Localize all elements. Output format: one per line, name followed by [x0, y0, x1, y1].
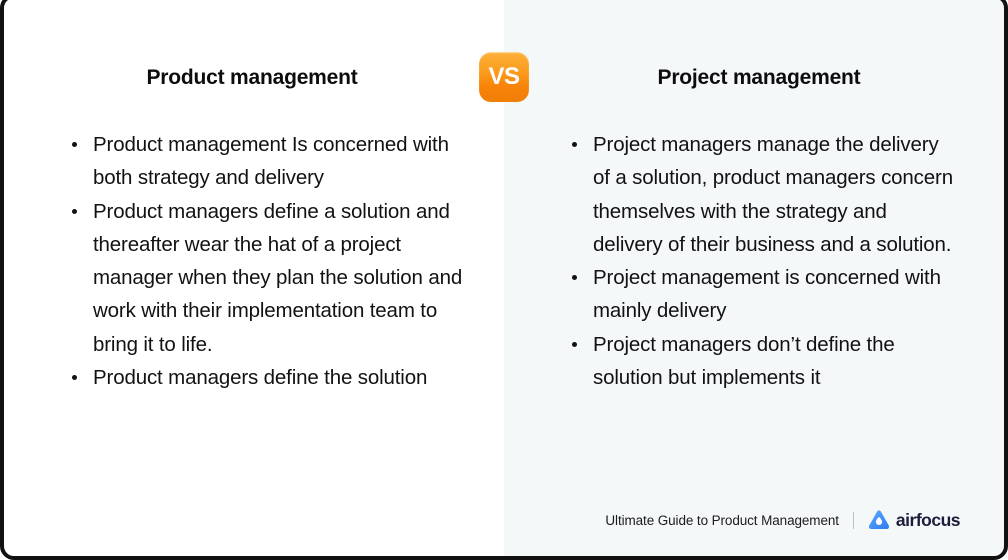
- vs-badge-label: VS: [488, 65, 519, 89]
- list-item: Product managers define a solution and t…: [64, 195, 464, 361]
- airfocus-triangle-drop-icon: [868, 509, 890, 531]
- list-item: Project management is concerned with mai…: [564, 261, 956, 328]
- footer: Ultimate Guide to Product Management: [605, 509, 960, 531]
- footer-divider: [853, 512, 854, 529]
- airfocus-logo: airfocus: [868, 509, 960, 531]
- footer-caption: Ultimate Guide to Product Management: [605, 513, 839, 528]
- vs-badge-icon: VS: [479, 52, 529, 102]
- list-item: Product managers define the solution: [64, 361, 464, 394]
- list-item: Project managers don’t define the soluti…: [564, 328, 956, 395]
- product-management-panel: Product management Product management Is…: [4, 0, 504, 556]
- product-management-bullet-list: Product management Is concerned with bot…: [64, 128, 464, 394]
- comparison-card: Product management Product management Is…: [4, 0, 1004, 556]
- comparison-slide: Product management Product management Is…: [0, 0, 1008, 560]
- project-management-panel: Project management Project managers mana…: [504, 0, 1004, 556]
- project-management-heading: Project management: [504, 64, 1004, 92]
- list-item: Project managers manage the delivery of …: [564, 128, 956, 261]
- list-item: Product management Is concerned with bot…: [64, 128, 464, 195]
- project-management-bullet-list: Project managers manage the delivery of …: [564, 128, 956, 394]
- airfocus-wordmark: airfocus: [896, 510, 960, 531]
- product-management-heading: Product management: [4, 64, 504, 92]
